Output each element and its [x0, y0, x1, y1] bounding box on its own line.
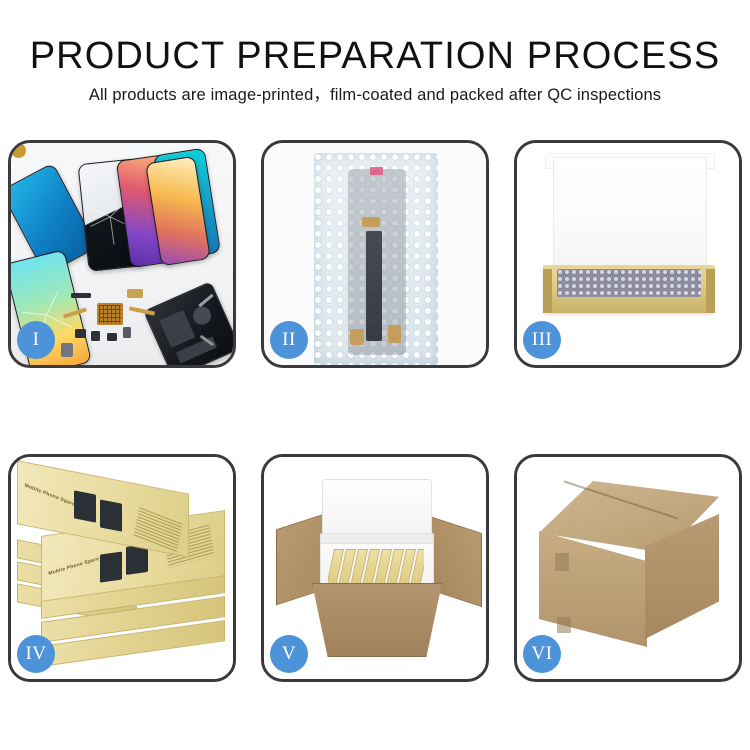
carton-contents [328, 549, 424, 585]
part-gold-disc [11, 143, 26, 158]
part-camera-module [61, 343, 73, 357]
part-small-chip-1 [71, 293, 91, 298]
part-small-chip-2 [127, 289, 143, 298]
process-step-grid: I II III [8, 140, 742, 682]
box-white-lid [553, 157, 707, 275]
carton-tape-lower [557, 617, 571, 633]
step-badge-5: V [270, 635, 308, 673]
carton-body [312, 583, 442, 657]
process-step-panel-2[interactable]: II [261, 140, 489, 368]
retail-box-spec-lines-1 [134, 507, 183, 552]
step-badge-3: III [523, 321, 561, 359]
process-step-panel-5[interactable]: V [261, 454, 489, 682]
bubble-wrapped-contents [557, 269, 701, 297]
retail-box-art-left-2 [100, 552, 122, 583]
bubble-wrap-bag [314, 153, 438, 365]
wrapped-connector-bottom-right [388, 325, 401, 343]
box-kraft-tray [543, 265, 715, 313]
page-header: PRODUCT PREPARATION PROCESS All products… [0, 0, 750, 128]
wrapped-connector-bottom-left [350, 329, 364, 345]
carton-tape-upper [555, 553, 569, 571]
phone-internal-board [143, 281, 236, 368]
wrapped-connector-top [362, 217, 380, 227]
retail-box-art-left-1 [74, 490, 96, 522]
page-subtitle: All products are image-printed，film-coat… [0, 84, 750, 106]
part-small-chip-3 [75, 329, 86, 338]
part-small-chip-6 [123, 327, 131, 338]
part-small-chip-5 [107, 333, 117, 341]
part-small-chip-4 [91, 331, 100, 341]
step-badge-6: VI [523, 635, 561, 673]
process-step-panel-1[interactable]: I [8, 140, 236, 368]
page-title: PRODUCT PREPARATION PROCESS [0, 34, 750, 78]
wrapped-screen-flex-cable [366, 231, 382, 341]
retail-box-art-right-1 [100, 499, 122, 531]
pink-qc-tape [370, 167, 383, 175]
box-corner-right [706, 269, 715, 313]
part-chip-array [97, 303, 123, 325]
process-step-panel-6[interactable]: VI [514, 454, 742, 682]
carton-front-face [539, 531, 647, 647]
process-step-panel-3[interactable]: III [514, 140, 742, 368]
box-corner-left [543, 269, 552, 313]
step-badge-2: II [270, 321, 308, 359]
process-step-panel-4[interactable]: Mobile Phone Spare Parts Mobile Phone Sp… [8, 454, 236, 682]
step-badge-4: IV [17, 635, 55, 673]
step-badge-1: I [17, 321, 55, 359]
